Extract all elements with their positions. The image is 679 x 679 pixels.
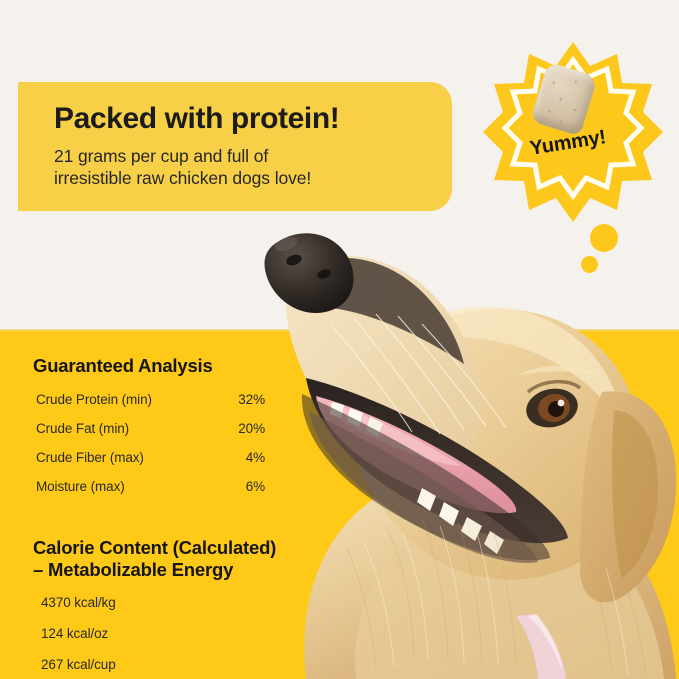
calorie-content-title: Calorie Content (Calculated) – Metaboliz… bbox=[33, 537, 283, 581]
nutrient-label: Crude Protein (min) bbox=[36, 392, 152, 407]
table-row: Moisture (max) 6% bbox=[33, 479, 265, 508]
headline-subtitle: 21 grams per cup and full of irresistibl… bbox=[54, 145, 452, 190]
calorie-value-list: 4370 kcal/kg 124 kcal/oz 267 kcal/cup bbox=[33, 595, 283, 679]
nutrition-info-panel: Guaranteed Analysis Crude Protein (min) … bbox=[33, 355, 283, 679]
thought-bubble-dot-small bbox=[581, 256, 598, 273]
nutrient-value: 4% bbox=[246, 450, 265, 465]
calorie-content-block: Calorie Content (Calculated) – Metaboliz… bbox=[33, 537, 283, 679]
list-item: 267 kcal/cup bbox=[41, 657, 283, 679]
list-item: 124 kcal/oz bbox=[41, 626, 283, 657]
table-row: Crude Fat (min) 20% bbox=[33, 421, 265, 450]
table-row: Crude Protein (min) 32% bbox=[33, 392, 265, 421]
table-row: Crude Fiber (max) 4% bbox=[33, 450, 265, 479]
guaranteed-analysis-title: Guaranteed Analysis bbox=[33, 355, 283, 377]
nutrient-label: Crude Fiber (max) bbox=[36, 450, 144, 465]
dog-photo bbox=[236, 186, 679, 679]
nutrient-label: Crude Fat (min) bbox=[36, 421, 129, 436]
guaranteed-analysis-table: Crude Protein (min) 32% Crude Fat (min) … bbox=[33, 392, 265, 508]
nutrient-value: 32% bbox=[238, 392, 265, 407]
thought-bubble-dot-large bbox=[590, 224, 618, 252]
list-item: 4370 kcal/kg bbox=[41, 595, 283, 626]
headline-banner: Packed with protein! 21 grams per cup an… bbox=[18, 82, 452, 211]
nutrient-label: Moisture (max) bbox=[36, 479, 125, 494]
page-title: Packed with protein! bbox=[54, 102, 452, 135]
product-infographic: Packed with protein! 21 grams per cup an… bbox=[0, 0, 679, 679]
nutrient-value: 20% bbox=[238, 421, 265, 436]
nutrient-value: 6% bbox=[246, 479, 265, 494]
yummy-badge: Yummy! bbox=[481, 40, 665, 224]
